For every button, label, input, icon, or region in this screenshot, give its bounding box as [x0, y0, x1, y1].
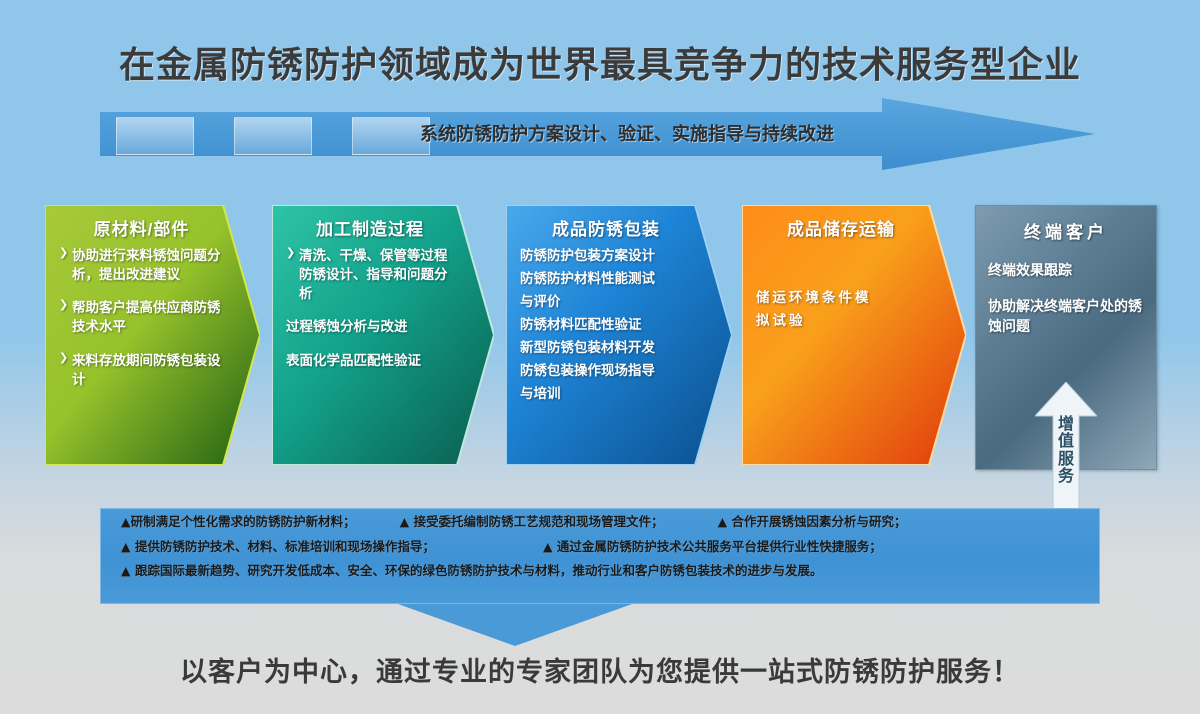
decorative-box-3: [352, 117, 430, 155]
list-item: 清洗、干燥、保管等过程防锈设计、指导和问题分析: [286, 246, 454, 303]
decorative-box-2: [234, 117, 312, 155]
arrow-char-3: 服: [1035, 451, 1097, 468]
stage-title: 原材料/部件: [59, 215, 224, 240]
service-item: ▲ 合作开展锈蚀因素分析与研究；: [718, 516, 907, 529]
list-item: 协助进行来料锈蚀问题分析，提出改进建议: [59, 246, 224, 284]
process-stage-manufacturing[interactable]: 加工制造过程 清洗、干燥、保管等过程防锈设计、指导和问题分析 过程锈蚀分析与改进…: [272, 205, 494, 465]
stage-title: 成品储存运输: [756, 215, 926, 240]
service-item: ▲ 接受委托编制防锈工艺规范和现场管理文件；: [400, 516, 664, 529]
services-row: ▲研制满足个性化需求的防锈防护新材料； ▲ 接受委托编制防锈工艺规范和现场管理文…: [115, 516, 1085, 529]
service-item: ▲ 提供防锈防护技术、材料、标准培训和现场操作指导；: [121, 541, 435, 554]
services-row: ▲ 提供防锈防护技术、材料、标准培训和现场操作指导； ▲ 通过金属防锈防护技术公…: [115, 541, 1085, 554]
stage-bullets: 协助进行来料锈蚀问题分析，提出改进建议 帮助客户提高供应商防锈技术水平 来料存放…: [59, 246, 224, 389]
arrow-char-2: 值: [1035, 433, 1097, 450]
stage-body: 成品防锈包装 防锈防护包装方案设计 防锈防护材料性能测试 与评价 防锈材料匹配性…: [506, 205, 732, 465]
list-item: 来料存放期间防锈包装设计: [59, 351, 224, 389]
list-item: 新型防锈包装材料开发: [520, 338, 692, 359]
process-stage-packaging[interactable]: 成品防锈包装 防锈防护包装方案设计 防锈防护材料性能测试 与评价 防锈材料匹配性…: [506, 205, 732, 465]
down-arrow-connector: [398, 604, 632, 646]
poster-canvas: 在金属防锈防护领域成为世界最具竞争力的技术服务型企业 系统防锈防护方案设计、验证…: [0, 0, 1200, 714]
list-item: 防锈材料匹配性验证: [520, 315, 692, 336]
page-title: 在金属防锈防护领域成为世界最具竞争力的技术服务型企业: [0, 36, 1200, 88]
list-item: 拟试验: [756, 311, 926, 332]
arrow-char-1: 增: [1035, 416, 1097, 433]
service-item: ▲ 跟踪国际最新趋势、研究开发低成本、安全、环保的绿色防锈防护技术与材料，推动行…: [121, 565, 822, 578]
end-customer-line-1: 终端效果跟踪: [988, 261, 1144, 281]
services-banner: ▲研制满足个性化需求的防锈防护新材料； ▲ 接受委托编制防锈工艺规范和现场管理文…: [100, 508, 1100, 604]
service-item: ▲ 通过金属防锈防护技术公共服务平台提供行业性快捷服务；: [543, 541, 882, 554]
list-item: 储运环境条件模: [756, 288, 926, 309]
stage-bullets: 储运环境条件模 拟试验: [756, 288, 926, 332]
list-item: 表面化学品匹配性验证: [286, 351, 454, 370]
list-item: 与培训: [520, 384, 692, 405]
list-item: 防锈包装操作现场指导: [520, 361, 692, 382]
value-added-service-label: 增 值 服 务: [1035, 416, 1097, 485]
list-item: 与评价: [520, 292, 692, 313]
process-stage-storage-transport[interactable]: 成品储存运输 储运环境条件模 拟试验: [742, 205, 966, 465]
value-added-service-arrow: 增 值 服 务: [1035, 382, 1097, 510]
stage-bullets: 防锈防护包装方案设计 防锈防护材料性能测试 与评价 防锈材料匹配性验证 新型防锈…: [520, 246, 692, 404]
stage-title: 成品防锈包装: [520, 215, 692, 240]
list-item: 防锈防护材料性能测试: [520, 269, 692, 290]
stage-bullets: 清洗、干燥、保管等过程防锈设计、指导和问题分析 过程锈蚀分析与改进 表面化学品匹…: [286, 246, 454, 370]
footer-slogan: 以客户为中心，通过专业的专家团队为您提供一站式防锈防护服务！: [0, 650, 1200, 689]
list-item: 防锈防护包装方案设计: [520, 246, 692, 267]
banner-caption: 系统防锈防护方案设计、验证、实施指导与持续改进: [420, 120, 960, 146]
services-row: ▲ 跟踪国际最新趋势、研究开发低成本、安全、环保的绿色防锈防护技术与材料，推动行…: [115, 565, 1085, 578]
process-stage-raw-material[interactable]: 原材料/部件 协助进行来料锈蚀问题分析，提出改进建议 帮助客户提高供应商防锈技术…: [45, 205, 260, 465]
service-item: ▲研制满足个性化需求的防锈防护新材料；: [121, 516, 356, 529]
end-customer-line-2: 协助解决终端客户处的锈蚀问题: [988, 297, 1144, 337]
decorative-box-1: [116, 117, 194, 155]
stage-body: 加工制造过程 清洗、干燥、保管等过程防锈设计、指导和问题分析 过程锈蚀分析与改进…: [272, 205, 494, 465]
list-item: 帮助客户提高供应商防锈技术水平: [59, 298, 224, 336]
stage-body: 原材料/部件 协助进行来料锈蚀问题分析，提出改进建议 帮助客户提高供应商防锈技术…: [45, 205, 260, 465]
stage-title: 加工制造过程: [286, 215, 454, 240]
stage-body: 成品储存运输 储运环境条件模 拟试验: [742, 205, 966, 465]
arrow-char-4: 务: [1035, 468, 1097, 485]
list-item: 过程锈蚀分析与改进: [286, 317, 454, 336]
stage-title: 终端客户: [988, 218, 1144, 243]
